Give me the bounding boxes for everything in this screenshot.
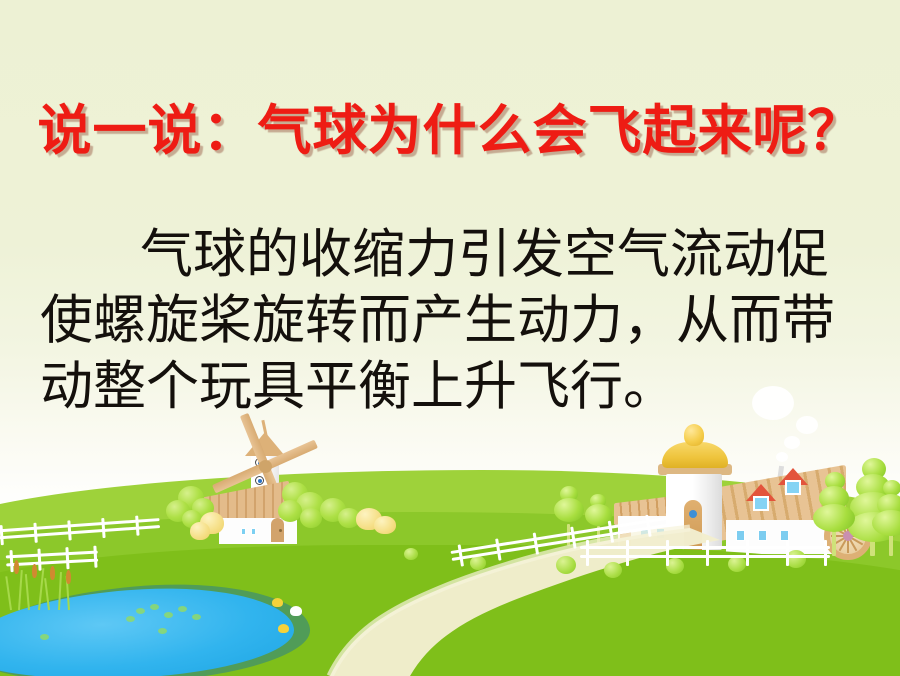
- body-paragraph: 气球的收缩力引发空气流动促使螺旋桨旋转而产生动力，从而带动整个玩具平衡上升飞行。: [40, 222, 860, 420]
- reed-head: [66, 570, 71, 584]
- reed-stalk: [25, 574, 30, 610]
- lily-pad: [192, 614, 201, 620]
- fence-rail: [6, 551, 98, 559]
- shrub: [404, 548, 418, 560]
- shrub: [556, 556, 576, 574]
- lily-pad: [40, 634, 49, 640]
- reed-stalk: [5, 576, 12, 610]
- presentation-slide: 说一说：气球为什么会飞起来呢？ 气球的收缩力引发空气流动促使螺旋桨旋转而产生动力…: [0, 0, 900, 676]
- reeds: [4, 566, 84, 610]
- lily-pad: [164, 612, 173, 618]
- fence-post: [706, 540, 709, 566]
- page-title: 说一说：气球为什么会飞起来呢？: [0, 100, 900, 164]
- fence-post: [786, 540, 789, 566]
- smoke-puff: [784, 436, 800, 449]
- reed-stalk: [44, 578, 50, 610]
- reed-stalk: [18, 570, 23, 610]
- reed-head: [50, 566, 55, 580]
- duck-icon: [290, 606, 302, 616]
- lily-pad: [126, 616, 135, 622]
- lily-pad: [158, 628, 167, 634]
- fence-post: [746, 540, 749, 566]
- fence-post: [626, 540, 629, 566]
- lily-pad: [136, 608, 145, 614]
- fence-rail: [580, 546, 830, 549]
- duck-icon: [272, 598, 283, 607]
- fence-post: [93, 546, 97, 568]
- fence-rail: [580, 555, 830, 558]
- reed-head: [32, 564, 37, 578]
- fence-post: [666, 540, 669, 566]
- fence-post: [824, 540, 827, 566]
- lily-pad: [178, 606, 187, 612]
- reed-head: [14, 560, 19, 574]
- reed-stalk: [38, 568, 44, 610]
- reed-stalk: [58, 572, 62, 610]
- tower-finial-icon: [684, 424, 704, 446]
- smoke-puff: [776, 452, 788, 462]
- duck-icon: [278, 624, 289, 633]
- fence-right: [580, 540, 830, 566]
- lily-pad: [150, 604, 159, 610]
